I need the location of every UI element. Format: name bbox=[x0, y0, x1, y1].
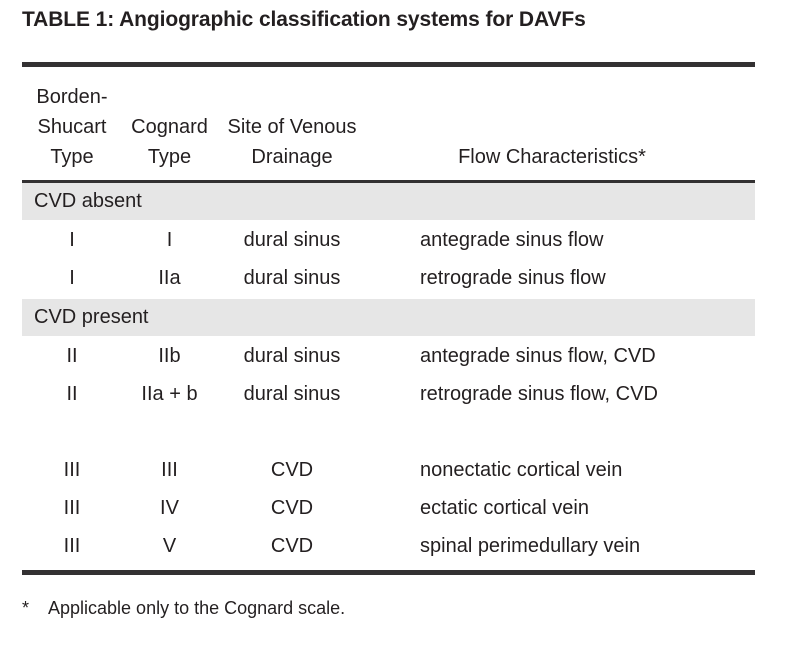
cell-site-of-venous-drainage: dural sinus bbox=[217, 229, 367, 252]
table-row: III III CVD nonectatic cortical vein bbox=[22, 451, 755, 489]
column-header-line-3: Type bbox=[22, 142, 122, 172]
cell-cognard-type: III bbox=[122, 459, 217, 482]
section-label: CVD absent bbox=[34, 190, 142, 213]
table-spacer-row bbox=[22, 413, 755, 451]
column-header-borden-shucart-type: Borden- Shucart Type bbox=[22, 72, 122, 172]
section-label: CVD present bbox=[34, 306, 149, 329]
table-header-row: Borden- Shucart Type Cognard Type Site o… bbox=[22, 72, 755, 172]
cell-flow-characteristics: ectatic cortical vein bbox=[367, 497, 755, 520]
cell-cognard-type: IIa bbox=[122, 267, 217, 290]
column-header-line-1: Borden- bbox=[22, 82, 122, 112]
table-bottom-rule bbox=[22, 570, 755, 575]
table-row: I IIa dural sinus retrograde sinus flow bbox=[22, 259, 755, 297]
cell-cognard-type: IIb bbox=[122, 345, 217, 368]
column-header-site-of-venous-drainage: Site of Venous Drainage bbox=[217, 72, 367, 172]
footnote-marker: * bbox=[22, 598, 48, 619]
footnote-text: Applicable only to the Cognard scale. bbox=[48, 598, 345, 619]
table-row: I I dural sinus antegrade sinus flow bbox=[22, 221, 755, 259]
cell-flow-characteristics: nonectatic cortical vein bbox=[367, 459, 755, 482]
column-header-flow-characteristics: Flow Characteristics* bbox=[367, 72, 755, 172]
cell-borden-shucart-type: I bbox=[22, 267, 122, 290]
cell-borden-shucart-type: III bbox=[22, 459, 122, 482]
cell-cognard-type: IV bbox=[122, 497, 217, 520]
column-header-line-3: Flow Characteristics* bbox=[367, 142, 737, 172]
cell-flow-characteristics: retrograde sinus flow bbox=[367, 267, 755, 290]
cell-flow-characteristics: antegrade sinus flow bbox=[367, 229, 755, 252]
table-title: TABLE 1: Angiographic classification sys… bbox=[22, 8, 586, 32]
cell-site-of-venous-drainage: CVD bbox=[217, 459, 367, 482]
column-header-line-3: Drainage bbox=[217, 142, 367, 172]
table-figure: TABLE 1: Angiographic classification sys… bbox=[0, 0, 800, 657]
column-header-line-2: Cognard bbox=[122, 112, 217, 142]
column-header-line-3: Type bbox=[122, 142, 217, 172]
cell-site-of-venous-drainage: dural sinus bbox=[217, 267, 367, 290]
cell-flow-characteristics: retrograde sinus flow, CVD bbox=[367, 383, 755, 406]
column-header-cognard-type: Cognard Type bbox=[122, 72, 217, 172]
section-band-cvd-absent: CVD absent bbox=[22, 183, 755, 220]
cell-site-of-venous-drainage: dural sinus bbox=[217, 345, 367, 368]
cell-borden-shucart-type: III bbox=[22, 497, 122, 520]
cell-site-of-venous-drainage: dural sinus bbox=[217, 383, 367, 406]
table-row: III IV CVD ectatic cortical vein bbox=[22, 489, 755, 527]
cell-borden-shucart-type: I bbox=[22, 229, 122, 252]
cell-cognard-type: V bbox=[122, 535, 217, 558]
cell-cognard-type: I bbox=[122, 229, 217, 252]
cell-flow-characteristics: antegrade sinus flow, CVD bbox=[367, 345, 755, 368]
table-top-rule bbox=[22, 62, 755, 67]
column-header-line-2: Site of Venous bbox=[217, 112, 367, 142]
cell-cognard-type: IIa + b bbox=[122, 383, 217, 406]
table-footnote: * Applicable only to the Cognard scale. bbox=[22, 598, 345, 619]
table-row: III V CVD spinal perimedullary vein bbox=[22, 527, 755, 565]
cell-flow-characteristics: spinal perimedullary vein bbox=[367, 535, 755, 558]
cell-site-of-venous-drainage: CVD bbox=[217, 497, 367, 520]
cell-borden-shucart-type: II bbox=[22, 345, 122, 368]
cell-site-of-venous-drainage: CVD bbox=[217, 535, 367, 558]
table-row: II IIb dural sinus antegrade sinus flow,… bbox=[22, 337, 755, 375]
column-header-line-2: Shucart bbox=[22, 112, 122, 142]
table-row: II IIa + b dural sinus retrograde sinus … bbox=[22, 375, 755, 413]
cell-borden-shucart-type: II bbox=[22, 383, 122, 406]
cell-borden-shucart-type: III bbox=[22, 535, 122, 558]
section-band-cvd-present: CVD present bbox=[22, 299, 755, 336]
